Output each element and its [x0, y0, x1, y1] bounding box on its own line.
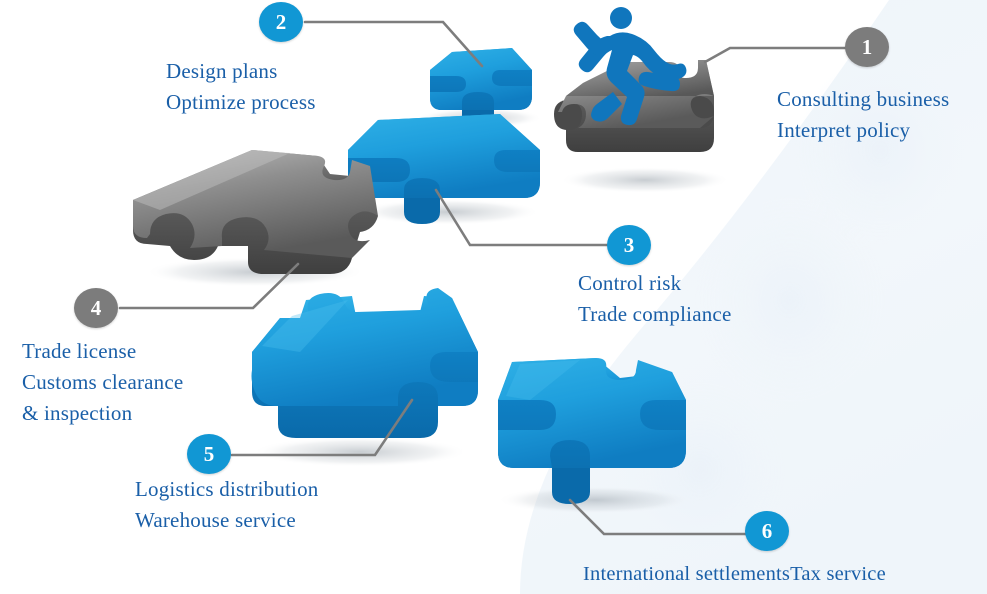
step-5-line-1: Logistics distribution — [135, 474, 319, 505]
step-label-4: Trade license Customs clearance & inspec… — [22, 336, 183, 429]
step-3-line-1: Control risk — [578, 268, 731, 299]
step-label-1: Consulting business Interpret policy — [777, 84, 949, 146]
connector-1 — [705, 48, 845, 62]
step-label-6: International settlementsTax service — [583, 559, 886, 590]
step-number-2: 2 — [276, 10, 287, 35]
puzzle-piece-6 — [498, 358, 686, 504]
puzzle-piece-5 — [252, 288, 479, 438]
puzzle-piece-4 — [133, 150, 378, 274]
step-number-3: 3 — [624, 233, 635, 258]
step-1-line-2: Interpret policy — [777, 115, 949, 146]
step-6-line-1: International settlementsTax service — [583, 559, 886, 590]
step-badge-2[interactable]: 2 — [259, 2, 303, 42]
step-number-4: 4 — [91, 296, 102, 321]
step-number-1: 1 — [862, 35, 873, 60]
step-5-line-2: Warehouse service — [135, 505, 319, 536]
step-4-line-1: Trade license — [22, 336, 183, 367]
step-label-5: Logistics distribution Warehouse service — [135, 474, 319, 536]
step-2-line-2: Optimize process — [166, 87, 316, 118]
infographic-canvas: 1 2 3 4 5 6 Consulting business Interpre… — [0, 0, 987, 594]
step-badge-6[interactable]: 6 — [745, 511, 789, 551]
step-badge-3[interactable]: 3 — [607, 225, 651, 265]
step-badge-5[interactable]: 5 — [187, 434, 231, 474]
step-label-2: Design plans Optimize process — [166, 56, 316, 118]
step-badge-1[interactable]: 1 — [845, 27, 889, 67]
step-number-6: 6 — [762, 519, 773, 544]
step-number-5: 5 — [204, 442, 215, 467]
step-badge-4[interactable]: 4 — [74, 288, 118, 328]
step-4-line-3: & inspection — [22, 398, 183, 429]
step-2-line-1: Design plans — [166, 56, 316, 87]
step-3-line-2: Trade compliance — [578, 299, 731, 330]
step-4-line-2: Customs clearance — [22, 367, 183, 398]
step-label-3: Control risk Trade compliance — [578, 268, 731, 330]
step-1-line-1: Consulting business — [777, 84, 949, 115]
